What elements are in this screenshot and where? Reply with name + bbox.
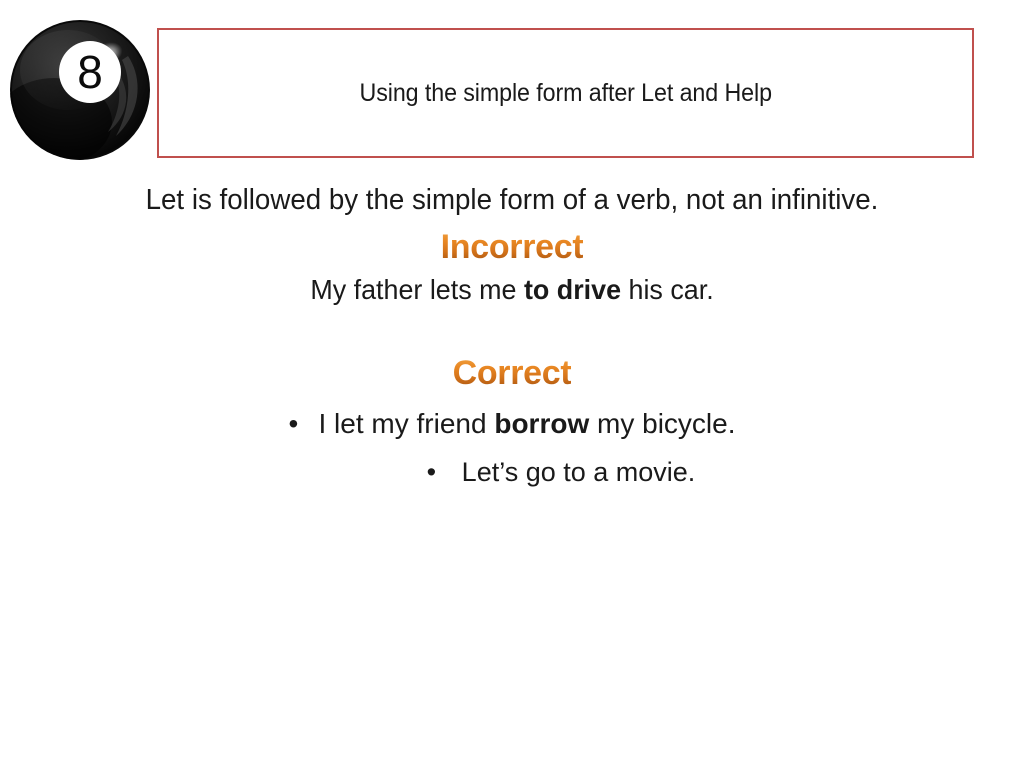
incorrect-example: My father lets me to drive his car. [20, 276, 1003, 304]
intro-sentence: Let is followed by the simple form of a … [23, 186, 1001, 215]
example-text-emphasis: borrow [494, 408, 589, 439]
slide-canvas: 8 Using the simple form after Let and He… [0, 0, 1024, 768]
slide-body: Let is followed by the simple form of a … [0, 186, 1024, 488]
bullet-icon: • [289, 408, 319, 440]
title-box: Using the simple form after Let and Help [157, 28, 974, 158]
example-text-emphasis: to drive [524, 274, 621, 305]
list-item: • I let my friend borrow my bicycle. [0, 408, 1024, 440]
example-text-after: my bicycle. [589, 408, 735, 439]
list-item: • Let’s go to a movie. [0, 457, 1024, 488]
list-item-text: I let my friend borrow my bicycle. [319, 408, 736, 440]
example-text-before: My father lets me [310, 274, 524, 305]
example-text-before: I let my friend [319, 408, 495, 439]
correct-heading: Correct [453, 354, 572, 392]
section-spacer [0, 304, 1024, 354]
example-text-after: his car. [621, 274, 714, 305]
example-text-before: Let’s go to a movie. [462, 457, 696, 487]
incorrect-heading: Incorrect [441, 228, 584, 266]
page-title: Using the simple form after Let and Help [359, 79, 771, 108]
svg-text:8: 8 [77, 46, 103, 98]
bullet-icon: • [427, 457, 462, 488]
incorrect-section: Incorrect My father lets me to drive his… [0, 228, 1024, 304]
eight-ball-icon: 8 [8, 18, 154, 164]
list-item-text: Let’s go to a movie. [462, 457, 696, 488]
correct-section: Correct • I let my friend borrow my bicy… [0, 354, 1024, 488]
